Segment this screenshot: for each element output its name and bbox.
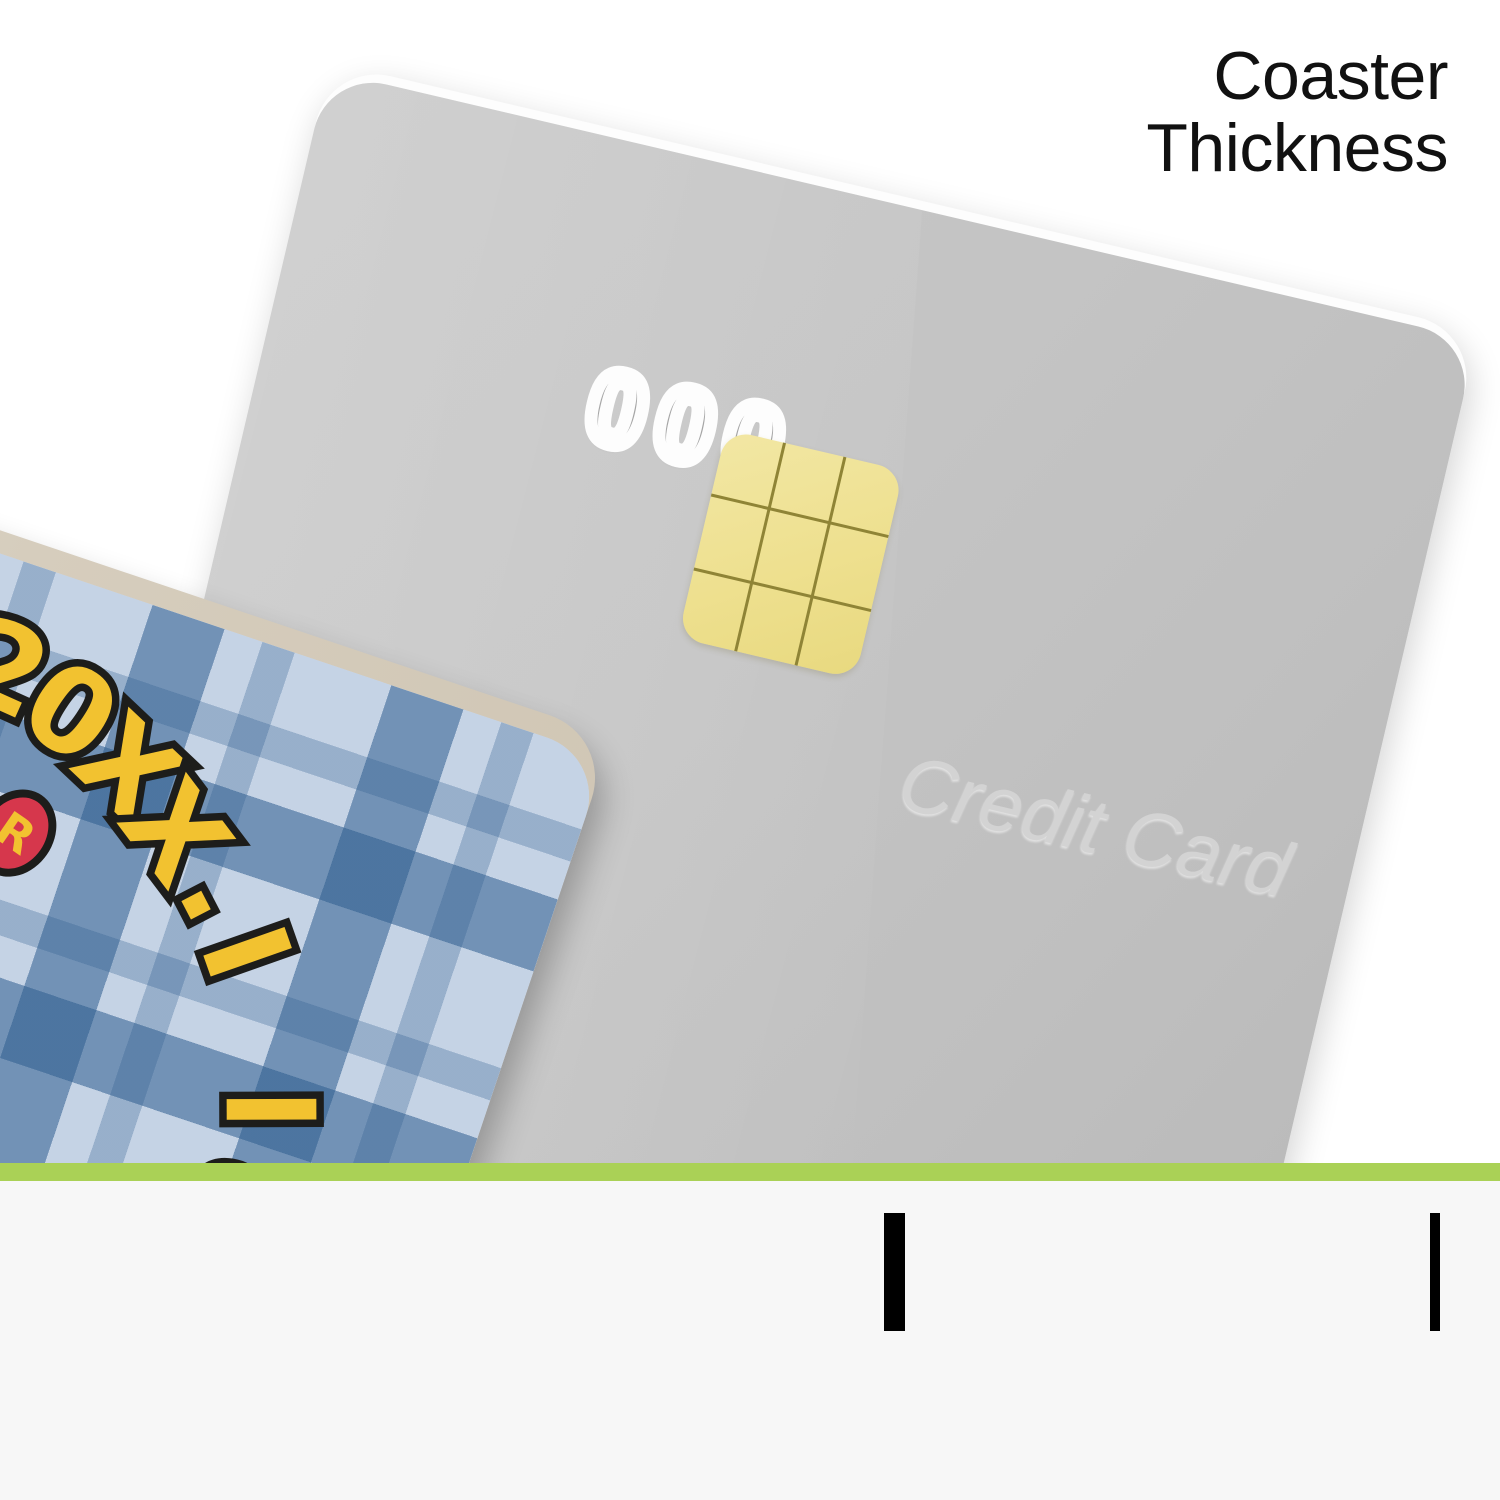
thickness-legend [0,1181,1500,1500]
super-letter: R [0,774,73,893]
green-divider [0,1163,1500,1181]
infographic-canvas: 000 Credit Card [0,0,1500,1500]
page-title: Coaster Thickness [1146,40,1448,184]
thickness-bar-credit-card [1430,1213,1440,1331]
thickness-bar-paper-coaster [884,1213,905,1331]
super-letter-badge: R [0,774,73,893]
card-brand-label: Credit Card [891,737,1300,917]
